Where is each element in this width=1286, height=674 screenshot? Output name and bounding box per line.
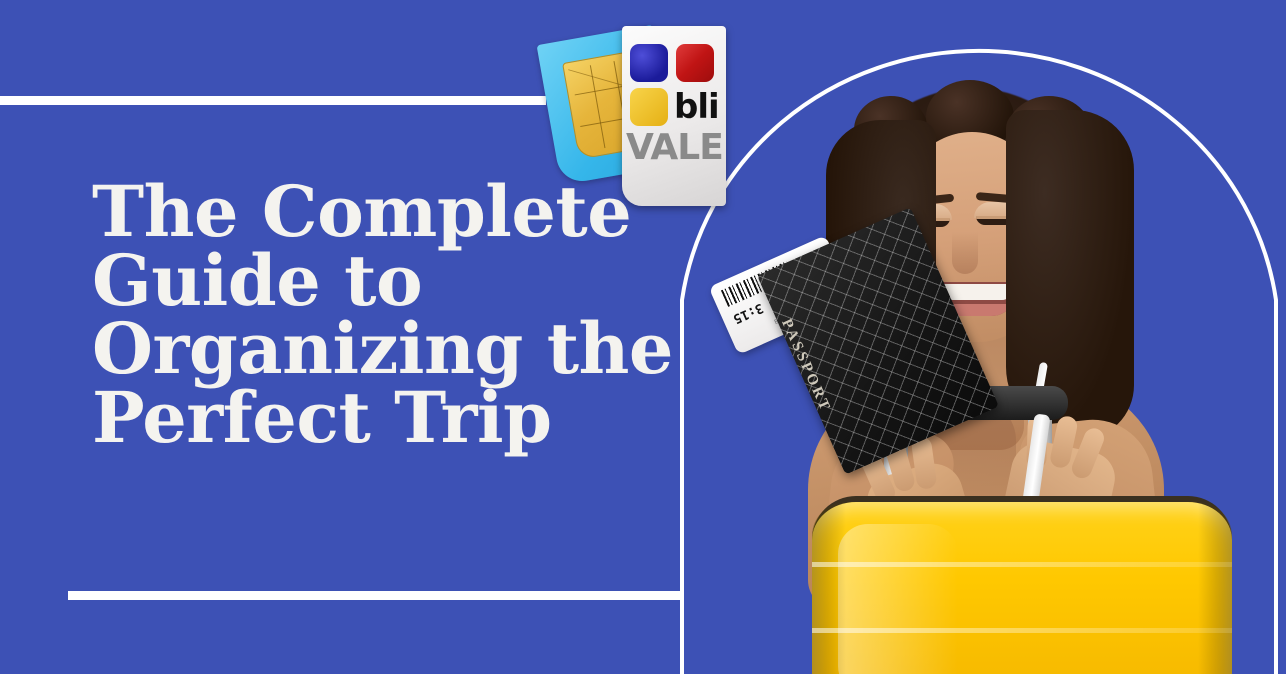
- suitcase-gloss: [838, 524, 958, 674]
- headline-line-4: Perfect Trip: [92, 384, 672, 453]
- nose: [952, 232, 978, 274]
- headline-line-3: Organizing the: [92, 315, 672, 384]
- top-divider: [0, 96, 546, 105]
- boarding-pass-seat-time: 3:15: [731, 300, 766, 326]
- logo-tile-red: [676, 44, 714, 82]
- passport-label: PASSPORT: [777, 317, 833, 416]
- logo-text-bli: bli: [674, 90, 719, 124]
- blivale-logo[interactable]: bli VALE: [548, 26, 740, 216]
- bottom-divider: [68, 591, 682, 600]
- headline-line-2: Guide to: [92, 247, 672, 316]
- travel-guide-banner: 3:15 24C BOARDING PASS PASSPORT: [0, 0, 1286, 674]
- suitcase-groove: [812, 562, 1232, 567]
- yellow-suitcase: [812, 496, 1232, 674]
- suitcase-groove: [812, 628, 1232, 633]
- logo-tile-blue: [630, 44, 668, 82]
- suitcase-edge-right: [1198, 502, 1232, 674]
- page-title: The Complete Guide to Organizing the Per…: [92, 178, 672, 452]
- logo-text-vale: VALE: [626, 130, 723, 166]
- logo-tile-yellow: [630, 88, 668, 126]
- logo-card: bli VALE: [622, 26, 726, 206]
- suitcase-edge-left: [812, 502, 846, 674]
- hero-photo: 3:15 24C BOARDING PASS PASSPORT: [676, 0, 1286, 674]
